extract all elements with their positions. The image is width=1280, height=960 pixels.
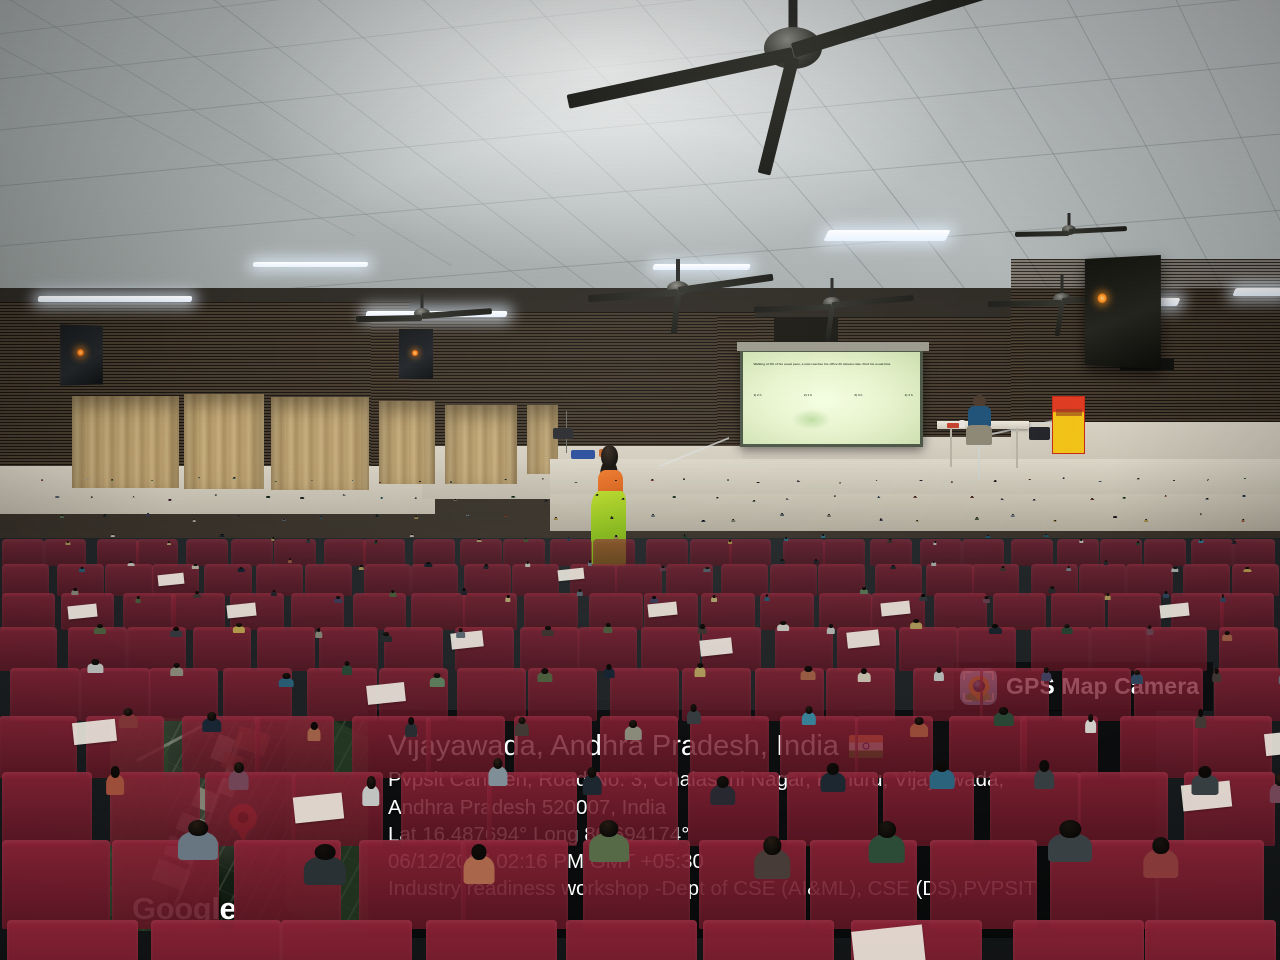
- audience-member-head: [729, 540, 731, 542]
- audience-member-head: [301, 497, 303, 498]
- audience-member-head: [971, 496, 973, 497]
- audience-member-head: [315, 844, 336, 860]
- audience-member-torso: [146, 514, 150, 516]
- audience-member-head: [526, 561, 529, 563]
- audience-member-torso: [1143, 849, 1178, 878]
- audience-member-head: [434, 673, 441, 678]
- audience-member-torso: [65, 542, 70, 545]
- audience-member-torso: [170, 667, 184, 677]
- audience-member-torso: [525, 563, 531, 567]
- audience-member-head: [1054, 520, 1056, 521]
- audience-member-head: [1002, 566, 1005, 568]
- audience-member-head: [862, 587, 866, 590]
- audience-member-head: [936, 761, 948, 773]
- audience-member-head: [239, 567, 242, 569]
- audience-member-head: [1275, 774, 1280, 787]
- speaker-power-led-center: [412, 350, 418, 356]
- audience-member-torso: [1080, 540, 1083, 543]
- stage-cabinet: [1052, 396, 1085, 455]
- audience-member-torso: [304, 856, 346, 885]
- audience-member-torso: [94, 627, 106, 634]
- slide-option-2: 2) 1 h: [804, 393, 812, 397]
- audience-member-torso: [237, 516, 240, 518]
- notebook-paper: [851, 925, 926, 960]
- audience-member-head: [1214, 668, 1219, 674]
- slide-options: 1) 2 h 2) 1 h 3) 3 h 4) 4 h: [753, 393, 912, 397]
- presenter-torso: [968, 406, 991, 427]
- audience-member-head: [367, 776, 375, 789]
- audience-member-head: [471, 844, 486, 860]
- audience-member-head: [234, 762, 244, 773]
- tube-light-1: [823, 230, 950, 241]
- audience-member-head: [596, 494, 598, 495]
- audience-member-head: [992, 624, 998, 628]
- audience-member-torso: [288, 560, 292, 564]
- audience-member-torso: [342, 665, 352, 675]
- pa-speaker-center: [399, 329, 432, 379]
- audience-member-head: [815, 559, 817, 561]
- slide-option-3: 3) 3 h: [854, 393, 862, 397]
- audience-member-head: [1114, 516, 1116, 517]
- audience-member-torso: [1244, 569, 1251, 573]
- audience-member-head: [705, 567, 709, 569]
- audience-member-head: [112, 479, 113, 480]
- projector-screen-surface: Walking at 5/6 of his usual pace, a man …: [743, 352, 920, 444]
- audience-member-head: [215, 494, 216, 495]
- audience-member-head: [690, 704, 697, 712]
- audience-member-head: [985, 596, 988, 599]
- audience-member-torso: [1242, 520, 1245, 522]
- audience-member-head: [606, 664, 611, 670]
- presenter-legs: [966, 425, 992, 445]
- audience-member-head: [409, 717, 415, 725]
- audience-member-torso: [488, 766, 507, 786]
- audience-member-torso: [1136, 542, 1140, 545]
- audience-member-torso: [1104, 595, 1111, 600]
- audience-member-torso: [111, 535, 115, 538]
- audience-member-torso: [466, 514, 470, 516]
- audience-member-head: [73, 588, 77, 591]
- audience-member-torso: [814, 560, 818, 564]
- audience-member-head: [652, 596, 656, 599]
- table-leg-1: [950, 428, 952, 466]
- cabinet-shelf: [1056, 409, 1082, 416]
- audience-member-torso: [1113, 516, 1117, 518]
- audience-member-head: [652, 514, 654, 515]
- audience-member-head: [717, 776, 729, 788]
- speaker-power-led-left: [78, 349, 85, 356]
- audience-member-head: [272, 537, 274, 539]
- audience-member-head: [606, 623, 611, 627]
- audience-member-head: [828, 624, 832, 628]
- audience-member-torso: [553, 518, 558, 520]
- presenter-seated: [964, 395, 995, 446]
- audience-member-head: [384, 632, 390, 636]
- audience-member-head: [684, 478, 685, 479]
- audience-member-head: [111, 766, 120, 778]
- photo-canvas: Walking at 5/6 of his usual pace, a man …: [0, 0, 1280, 960]
- red-object-on-table: [947, 423, 959, 427]
- audience-member-torso: [1011, 515, 1015, 517]
- audience-member-torso: [698, 627, 706, 634]
- speaker-power-led: [1097, 294, 1106, 304]
- audience-member-torso: [1044, 535, 1049, 538]
- audience-member-head: [427, 562, 431, 564]
- audience-member-torso: [193, 520, 196, 522]
- audience-member-head: [61, 515, 63, 516]
- audience-member-torso: [60, 516, 64, 518]
- audience-member-head: [999, 707, 1009, 715]
- curtain-left: [72, 396, 180, 488]
- audience-member-head: [478, 539, 480, 541]
- audience-member-head: [236, 623, 242, 627]
- audience-member-torso: [1200, 514, 1202, 516]
- audience-member-torso: [610, 517, 613, 519]
- audience-member-head: [728, 479, 729, 480]
- audience-member-head: [458, 628, 463, 632]
- audience-member-head: [467, 514, 469, 515]
- audience-member-torso: [425, 563, 432, 567]
- audience-member-head: [173, 663, 180, 668]
- audience-member-torso: [375, 515, 378, 517]
- audience-member-torso: [232, 626, 244, 633]
- audience-member-head: [1164, 591, 1167, 594]
- audience-member-head: [588, 767, 597, 778]
- audience-member-torso: [1145, 520, 1149, 522]
- curtain-mid: [271, 397, 368, 489]
- audience-member-torso: [583, 775, 602, 795]
- audience-member-torso: [359, 567, 364, 571]
- audience-member-head: [518, 717, 525, 725]
- audience-member-torso: [703, 568, 710, 572]
- ceiling-fan-foreground: [486, 0, 1075, 115]
- curtain-right: [445, 405, 517, 484]
- audience-member-torso: [271, 592, 277, 597]
- audience-member-head: [308, 539, 310, 541]
- audience-member-head: [805, 706, 812, 714]
- audience-member-head: [878, 821, 896, 838]
- audience-member-torso: [614, 536, 618, 539]
- audience-member-head: [1152, 837, 1169, 853]
- audience-member-torso: [780, 514, 784, 516]
- audience-member-torso: [542, 629, 554, 636]
- audience-member-torso: [916, 521, 920, 523]
- audience-member-torso: [731, 520, 734, 522]
- audience-member-torso: [1232, 542, 1237, 545]
- audience-member-head: [1050, 586, 1054, 589]
- slide-option-4: 4) 4 h: [905, 393, 913, 397]
- audience-member-torso: [430, 677, 444, 687]
- audience-member-head: [1039, 760, 1048, 772]
- audience-member-torso: [827, 515, 831, 517]
- audience-member-head: [913, 619, 919, 623]
- audience-member-head: [221, 534, 224, 536]
- floor-equipment-dark: [553, 428, 573, 439]
- audience-member-head: [133, 496, 135, 497]
- slide-question-text: Walking at 5/6 of his usual pace, a man …: [753, 362, 912, 366]
- audience-member-torso: [933, 542, 936, 545]
- curtain-mid-2: [379, 401, 435, 484]
- audience-member-head: [1134, 670, 1140, 675]
- audience-member-head: [1198, 709, 1204, 717]
- audience-member-torso: [415, 517, 419, 519]
- audience-member-head: [698, 663, 703, 669]
- pa-speaker-right: [1084, 255, 1160, 370]
- audience-member-head: [1106, 593, 1109, 596]
- projector-screen: Walking at 5/6 of his usual pace, a man …: [740, 349, 923, 447]
- audience-member-head: [1173, 567, 1177, 569]
- audience-member-head: [1146, 519, 1148, 520]
- audience-member-torso: [228, 770, 249, 790]
- audience-member-head: [753, 500, 755, 501]
- audience-member-torso: [319, 517, 322, 519]
- audience-member-head: [450, 481, 451, 482]
- slide-graphic-blob: [792, 409, 831, 429]
- audience-member-head: [785, 537, 787, 539]
- audience-member-torso: [1131, 674, 1143, 684]
- audience-member-head: [391, 590, 394, 593]
- audience-member-torso: [103, 515, 107, 517]
- audience-member-head: [1105, 560, 1107, 562]
- audience-member-head: [283, 673, 290, 679]
- audience-member-head: [827, 763, 839, 775]
- table-leg-2: [1016, 428, 1018, 468]
- screen-roller: [737, 342, 929, 352]
- audience-member-head: [195, 591, 199, 594]
- audience-member-head: [505, 515, 507, 516]
- audience-member-head: [712, 595, 715, 598]
- audience-member-head: [336, 596, 340, 599]
- audience-member-head: [1225, 631, 1230, 635]
- slide-option-1: 1) 2 h: [753, 393, 761, 397]
- audience-member-torso: [934, 671, 944, 681]
- audience-member-head: [545, 626, 551, 630]
- audience-member-torso: [651, 515, 655, 517]
- audience-member-torso: [504, 515, 507, 517]
- audience-member-head: [199, 477, 200, 478]
- audience-member-head: [732, 519, 734, 520]
- audience-member-head: [168, 541, 170, 543]
- audience-member-torso: [456, 631, 466, 638]
- audience-member-torso: [238, 568, 245, 572]
- audience-member-head: [207, 712, 216, 721]
- audience-member-torso: [931, 562, 937, 566]
- audience-member-head: [889, 539, 892, 541]
- tube-light-5: [38, 296, 192, 302]
- audience-member-head: [822, 534, 824, 536]
- audience-member-head: [507, 595, 510, 598]
- audience-member-head: [345, 661, 350, 666]
- audience-member-torso: [410, 535, 414, 538]
- audience-member-torso: [523, 539, 528, 542]
- audience-member-torso: [1054, 520, 1057, 522]
- chair-on-stage: [1029, 427, 1049, 439]
- curtain-left-2: [184, 394, 263, 489]
- audience-member-head: [545, 500, 547, 501]
- audience-member-torso: [1171, 568, 1178, 572]
- tube-light-3: [1232, 288, 1280, 296]
- audience-member-torso: [282, 519, 286, 521]
- audience-member-head: [568, 537, 570, 539]
- audience-member-head: [861, 668, 867, 674]
- audience-member-head: [92, 659, 99, 665]
- audience-member-head: [1060, 820, 1081, 838]
- audience-member-torso: [214, 495, 216, 496]
- audience-member-head: [289, 558, 291, 560]
- audience-member-torso: [880, 519, 883, 521]
- audience-member-head: [921, 594, 925, 597]
- audience-member-head: [1088, 714, 1094, 722]
- audience-member-head: [915, 496, 917, 497]
- pa-speaker-left: [60, 325, 102, 386]
- audience-member-torso: [389, 592, 396, 597]
- audience-member-head: [124, 708, 133, 716]
- audience-member-head: [80, 567, 83, 569]
- audience-member-head: [188, 820, 208, 836]
- tube-light-7: [253, 262, 369, 267]
- audience-member-torso: [588, 562, 592, 566]
- audience-member-torso: [127, 563, 134, 567]
- audience-member-torso: [986, 536, 991, 539]
- audience-member-head: [1092, 498, 1094, 499]
- audience-member-head: [272, 590, 275, 593]
- audience-member-torso: [683, 535, 687, 538]
- audience-member-head: [463, 588, 466, 591]
- audience-member-head: [932, 561, 935, 563]
- audience-member: [1227, 837, 1280, 960]
- audience-member-head: [317, 628, 321, 632]
